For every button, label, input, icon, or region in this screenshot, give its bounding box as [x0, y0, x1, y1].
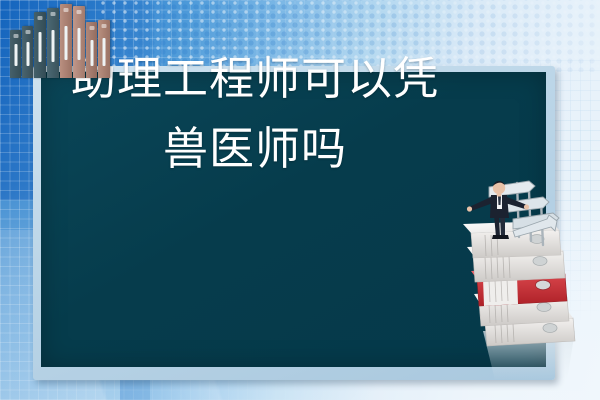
- binder-clip-icon: [64, 8, 69, 12]
- binder-label-strip: [78, 28, 81, 60]
- binder-clip-icon: [25, 30, 30, 34]
- binder-item: [34, 12, 46, 78]
- binder-item: [22, 26, 33, 78]
- illustration-binder-stack-with-businessman: [455, 175, 600, 400]
- binder-clip-icon: [51, 12, 56, 16]
- binder-item: [60, 4, 72, 78]
- binder-label-strip: [103, 38, 106, 66]
- binder-label-strip: [39, 32, 42, 62]
- binder-label-strip: [90, 40, 93, 66]
- binder-item: [47, 8, 59, 78]
- binder-item: [73, 6, 85, 78]
- binder-clip-icon: [89, 26, 94, 30]
- binder-item: [10, 30, 21, 78]
- cover-image-canvas: 助理工程师可以凭 兽医师吗: [0, 0, 600, 400]
- binder-label-strip: [52, 30, 55, 62]
- binder-clip-icon: [38, 16, 43, 20]
- binder-label-strip: [14, 44, 17, 66]
- binder-label-strip: [65, 26, 68, 60]
- binder-item: [86, 22, 97, 78]
- binder-item: [98, 20, 110, 78]
- binder-clip-icon: [102, 24, 107, 28]
- binder-label-strip: [26, 42, 29, 66]
- binder-clip-icon: [13, 34, 18, 38]
- binder-clip-icon: [77, 10, 82, 14]
- title-line-2: 兽医师吗: [40, 114, 470, 184]
- binder-row: [10, 0, 120, 78]
